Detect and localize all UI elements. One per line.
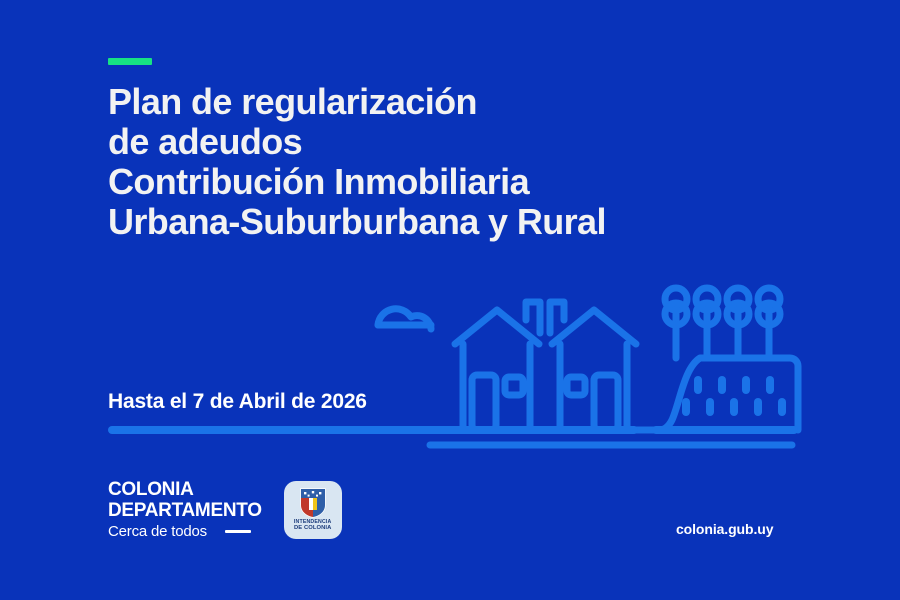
house-left (455, 302, 540, 430)
tree (665, 288, 687, 358)
website-url[interactable]: colonia.gub.uy (676, 521, 773, 537)
brand-lockup: COLONIA DEPARTAMENTO Cerca de todos (108, 480, 342, 539)
brand-dash-rule (225, 530, 251, 533)
headline-line-2: de adeudos (108, 122, 768, 162)
brand-name-line-1: COLONIA (108, 480, 262, 499)
headline-line-3: Contribución Inmobiliaria (108, 162, 768, 202)
poster-canvas: Plan de regularización de adeudos Contri… (0, 0, 900, 600)
tree (727, 288, 749, 358)
baseline-bar-right (652, 426, 798, 434)
intendencia-crest-badge: INTENDENCIA DE COLONIA (284, 481, 342, 539)
headline-line-4: Urbana-Suburburbana y Rural (108, 202, 768, 242)
brand-wordmark: COLONIA DEPARTAMENTO Cerca de todos (108, 480, 262, 539)
headline-line-1: Plan de regularización (108, 82, 768, 122)
field-outline (660, 358, 798, 430)
brand-tagline-row: Cerca de todos (108, 524, 262, 539)
tree (696, 288, 718, 358)
baseline-bar-left (108, 426, 638, 434)
brand-name-line-2: DEPARTAMENTO (108, 501, 262, 520)
brand-tagline: Cerca de todos (108, 524, 207, 539)
coat-of-arms-icon (300, 488, 326, 518)
crest-caption: INTENDENCIA DE COLONIA (294, 520, 332, 532)
crest-caption-line-2: DE COLONIA (294, 525, 332, 531)
page-title: Plan de regularización de adeudos Contri… (108, 82, 768, 242)
green-accent-rule (108, 58, 152, 65)
cloud-icon (378, 309, 431, 329)
tree (758, 288, 780, 358)
house-right (550, 302, 636, 430)
scene-illustration (0, 280, 900, 450)
field-crops (686, 380, 782, 412)
